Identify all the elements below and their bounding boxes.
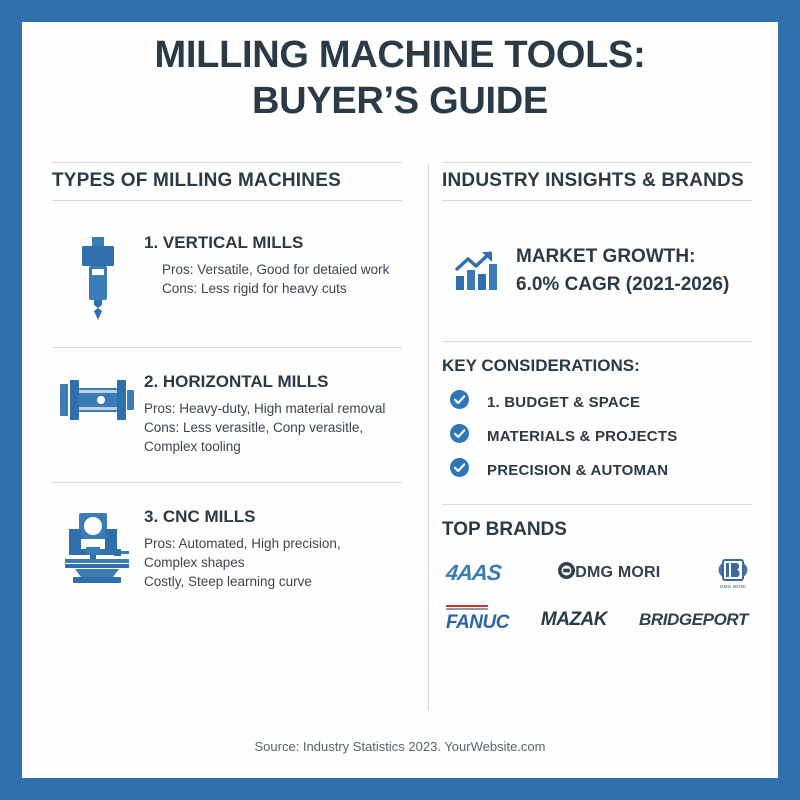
type-row: 3. CNC MILLS Pros: Automated, High preci… xyxy=(52,505,402,591)
consideration-label: PRECISION & AUTOMAN xyxy=(487,462,668,479)
market-growth-value: 6.0% CAGR (2021-2026) xyxy=(516,271,729,299)
brand-subtext: DMG MORI xyxy=(720,584,746,589)
list-item: PRECISION & AUTOMAN xyxy=(450,458,752,482)
type-row: 1. VERTICAL MILLS Pros: Versatile, Good … xyxy=(52,231,402,321)
types-column: TYPES OF MILLING MACHINES 1. VERTIC xyxy=(52,162,402,591)
list-item: 1. BUDGET & SPACE xyxy=(450,390,752,414)
section-divider xyxy=(442,341,752,342)
type-detail-line: Pros: Versatile, Good for detaied work xyxy=(144,260,402,279)
brand-name: FANUC xyxy=(446,612,509,634)
brand-logo-monogram: DMG MORI xyxy=(718,557,748,589)
consideration-label: MATERIALS & PROJECTS xyxy=(487,428,677,445)
type-detail-line: Pros: Automated, High precision, xyxy=(144,534,402,553)
list-item: MATERIALS & PROJECTS xyxy=(450,424,752,448)
check-circle-icon xyxy=(450,458,469,482)
horizontal-mill-icon xyxy=(52,370,144,426)
column-divider xyxy=(428,165,429,710)
types-section-header: TYPES OF MILLING MACHINES xyxy=(52,162,402,201)
type-body: 1. VERTICAL MILLS Pros: Versatile, Good … xyxy=(144,231,402,298)
brand-logo-haas: 4AAS xyxy=(446,560,501,586)
check-circle-icon xyxy=(450,424,469,448)
title-line-2: BUYER’S GUIDE xyxy=(22,78,778,124)
market-growth-label: MARKET GROWTH: xyxy=(516,243,729,271)
type-name: 1. VERTICAL MILLS xyxy=(144,233,402,253)
brand-name: BRIDGEPORT xyxy=(639,610,748,630)
brand-logo-dmg-mori: DMG MORI xyxy=(558,562,660,584)
type-name: 2. HORIZONTAL MILLS xyxy=(144,372,402,392)
page-title: MILLING MACHINE TOOLS: BUYER’S GUIDE xyxy=(22,32,778,124)
brand-row-2: FANUC MAZAK BRIDGEPORT xyxy=(442,605,752,634)
brand-name: DMG MORI xyxy=(575,564,660,582)
considerations-list: 1. BUDGET & SPACE MATERIALS & PROJECTS xyxy=(442,390,752,482)
type-detail-line: Pros: Heavy-duty, High material removal xyxy=(144,399,402,418)
type-detail-line: Complex tooling xyxy=(144,437,402,456)
brand-name: 4AAS xyxy=(445,560,502,586)
type-body: 2. HORIZONTAL MILLS Pros: Heavy-duty, Hi… xyxy=(144,370,402,456)
brand-logo-fanuc: FANUC xyxy=(446,605,509,634)
infographic-page: MILLING MACHINE TOOLS: BUYER’S GUIDE TYP… xyxy=(0,0,800,800)
footer-source: Source: Industry Statistics 2023. YourWe… xyxy=(22,739,778,754)
brand-logo-mazak: MAZAK xyxy=(541,609,607,631)
infographic-canvas: MILLING MACHINE TOOLS: BUYER’S GUIDE TYP… xyxy=(22,22,778,778)
section-divider xyxy=(52,347,402,348)
title-line-1: MILLING MACHINE TOOLS: xyxy=(22,32,778,78)
type-detail-line: Complex shapes xyxy=(144,553,402,572)
check-circle-icon xyxy=(450,390,469,414)
section-divider xyxy=(52,482,402,483)
type-body: 3. CNC MILLS Pros: Automated, High preci… xyxy=(144,505,402,591)
vertical-mill-icon xyxy=(52,231,144,321)
brands-header: TOP BRANDS xyxy=(442,519,752,541)
fanuc-bars-icon xyxy=(446,605,488,611)
considerations-header: KEY CONSIDERATIONS: xyxy=(442,356,752,376)
brand-logo-bridgeport: BRIDGEPORT xyxy=(639,610,748,630)
type-row: 2. HORIZONTAL MILLS Pros: Heavy-duty, Hi… xyxy=(52,370,402,456)
type-name: 3. CNC MILLS xyxy=(144,507,402,527)
market-growth-block: MARKET GROWTH: 6.0% CAGR (2021-2026) xyxy=(442,243,752,299)
growth-chart-icon xyxy=(450,250,504,292)
brand-row-1: 4AAS DMG MORI xyxy=(442,557,752,589)
type-detail-line: Costly, Steep learning curve xyxy=(144,572,402,591)
market-growth-text: MARKET GROWTH: 6.0% CAGR (2021-2026) xyxy=(516,243,729,299)
db-monogram-icon xyxy=(718,557,748,583)
section-divider xyxy=(442,504,752,505)
brand-name: MAZAK xyxy=(541,609,607,631)
consideration-label: 1. BUDGET & SPACE xyxy=(487,394,640,411)
insights-section-header: INDUSTRY INSIGHTS & BRANDS xyxy=(442,162,752,201)
type-detail-line: Cons: Less verasitle, Conp verasitle, xyxy=(144,418,402,437)
insights-column: INDUSTRY INSIGHTS & BRANDS MARKET GROWTH… xyxy=(442,162,752,634)
type-detail-line: Cons: Less rigid for heavy cuts xyxy=(144,279,402,298)
cnc-mill-icon xyxy=(52,505,144,585)
dmg-circle-mark-icon xyxy=(558,562,575,584)
